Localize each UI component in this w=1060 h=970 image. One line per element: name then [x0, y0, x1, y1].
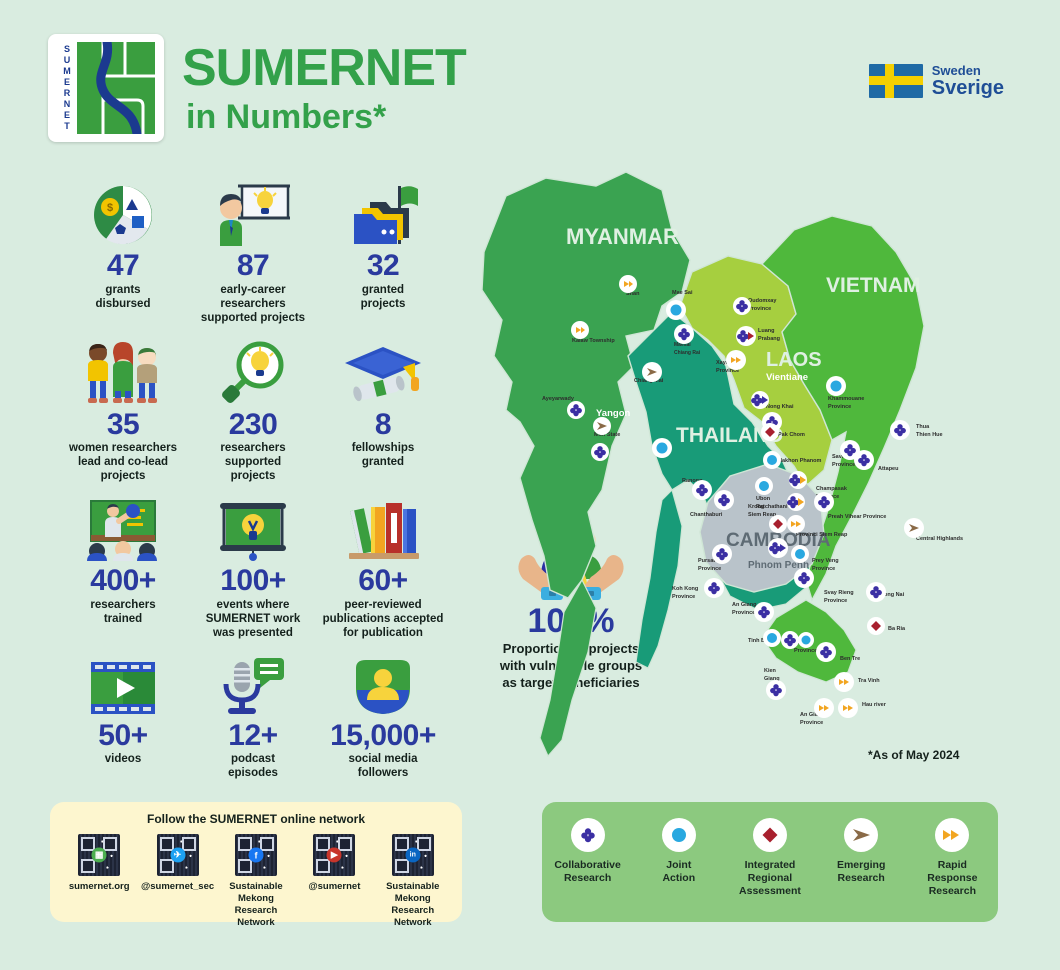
- logo-wordmark: SUMERNET: [57, 42, 77, 134]
- place-label: An Giang: [732, 602, 756, 608]
- map-marker: [736, 326, 756, 346]
- social-caption: @sumernet: [297, 881, 371, 893]
- qr-code-twitter[interactable]: ✈: [157, 834, 199, 876]
- map-marker: [794, 568, 814, 588]
- circle-dot-icon: [662, 818, 696, 852]
- svg-text:$: $: [107, 202, 113, 214]
- map-marker: [769, 515, 787, 533]
- website-icon: ▦: [92, 848, 107, 863]
- legend-item-emerging-research[interactable]: Emerging Research: [819, 818, 903, 922]
- place-label: Province: [672, 594, 695, 600]
- social-panel-title: Follow the SUMERNET online network: [50, 802, 462, 826]
- place-label: Chanthaburi: [690, 512, 723, 518]
- stat-number: 12+: [228, 720, 277, 752]
- stat-card: 400+ researchers trained: [58, 493, 188, 640]
- qr-code-linkedin[interactable]: in: [392, 834, 434, 876]
- place-label: Province: [698, 566, 721, 572]
- map-marker: [834, 672, 854, 692]
- place-label: Provinci Siem Reap: [796, 532, 848, 538]
- clover-icon: [571, 818, 605, 852]
- map-svg: MYANMAR VIETNAM LAOS THAILAND CAMBODIA V…: [476, 160, 1036, 780]
- books-shelf-icon: [345, 493, 421, 561]
- map-marker: [733, 297, 751, 315]
- stat-number: 50+: [98, 720, 147, 752]
- linkedin-icon: in: [405, 848, 420, 863]
- three-women-icon: [82, 335, 164, 405]
- qr-code-facebook[interactable]: f: [235, 834, 277, 876]
- map-marker: [904, 518, 924, 538]
- stat-label: researchers supported projects: [220, 441, 285, 483]
- map-marker: [814, 492, 834, 512]
- map-marker: [712, 544, 732, 564]
- place-label: Tra Vinh: [858, 678, 880, 684]
- place-label: Kalaw Township: [572, 338, 615, 344]
- map-marker: [755, 477, 773, 495]
- diamond-icon: [753, 818, 787, 852]
- stat-number: 100+: [220, 565, 286, 597]
- stat-card: 32 granted projects: [318, 176, 448, 325]
- map-marker: [838, 698, 858, 718]
- map-marker: [714, 490, 734, 510]
- stat-label: events where SUMERNET work was presented: [206, 598, 301, 640]
- stat-card: 12+ podcast episodes: [188, 650, 318, 781]
- place-label: Thien Hue: [916, 432, 943, 438]
- place-label: Nong Khai: [766, 404, 794, 410]
- place-label: Ayeyarwady: [542, 396, 575, 402]
- stat-card: $ 47 grants disbursed: [58, 176, 188, 325]
- map-marker: [704, 578, 724, 598]
- place-label: Province: [748, 306, 771, 312]
- place-label: Thua: [916, 424, 930, 430]
- map-marker: [768, 538, 788, 558]
- place-label: Svay Rieng: [824, 590, 854, 596]
- stat-label: granted projects: [361, 283, 406, 311]
- place-label: Mae Sai: [672, 290, 693, 296]
- map-marker: [642, 362, 662, 382]
- social-item[interactable]: ▦ sumernet.org: [62, 834, 136, 929]
- sumernet-logo: SUMERNET: [48, 34, 164, 142]
- place-label: Hau river: [862, 702, 887, 708]
- legend-item-integrated-regional-assessment[interactable]: Integrated Regional Assessment: [728, 818, 812, 922]
- stat-card: 8 fellowships granted: [318, 335, 448, 484]
- stat-card: 60+ peer-reviewed publications accepted …: [318, 493, 448, 640]
- place-label: Province: [794, 648, 817, 654]
- stat-card: 87 early-career researchers supported pr…: [188, 176, 318, 325]
- classroom-training-icon: [83, 493, 163, 561]
- map-marker: [652, 438, 672, 458]
- sweden-label-en: Sweden: [932, 64, 1004, 78]
- map-marker: [766, 680, 786, 700]
- stat-label: videos: [105, 752, 141, 766]
- map-marker: [763, 629, 781, 647]
- header: SUMERNET SUMERNET in Numbers*: [48, 34, 466, 142]
- place-label: Champasak: [816, 486, 848, 492]
- map-marker: [890, 420, 910, 440]
- stat-label: grants disbursed: [96, 283, 151, 311]
- country-label-laos: LAOS: [766, 349, 822, 371]
- stat-number: 32: [367, 250, 399, 282]
- map-marker: [666, 300, 686, 320]
- social-caption: Sustainable Mekong Research Network: [219, 881, 293, 929]
- map-marker: [826, 376, 846, 396]
- map-marker: [567, 401, 585, 419]
- place-label: Prabang: [758, 336, 780, 342]
- map-marker: [854, 450, 874, 470]
- stat-card: 230 researchers supported projects: [188, 335, 318, 484]
- as-of-note: *As of May 2024: [868, 748, 959, 762]
- stat-number: 35: [107, 409, 139, 441]
- place-label: Khammouane: [828, 396, 864, 402]
- legend-caption: Collaborative Research: [546, 859, 630, 885]
- social-caption: @sumernet_sec: [141, 881, 215, 893]
- place-label: Province: [824, 598, 847, 604]
- stat-label: fellowships granted: [352, 441, 415, 469]
- place-label: Pak Chom: [778, 432, 805, 438]
- graduation-cap-icon: [343, 335, 423, 405]
- map-marker: [866, 582, 886, 602]
- city-label-vientiane: Vientiane: [766, 372, 808, 383]
- stat-label: social media followers: [348, 752, 417, 780]
- social-item[interactable]: in Sustainable Mekong Research Network: [376, 834, 450, 929]
- map-marker: [751, 391, 769, 409]
- country-label-myanmar: MYANMAR: [566, 224, 679, 249]
- place-label: Attapeu: [878, 466, 898, 472]
- social-item[interactable]: f Sustainable Mekong Research Network: [219, 834, 293, 929]
- stat-label: early-career researchers supported proje…: [201, 283, 305, 325]
- social-item[interactable]: ✈ @sumernet_sec: [141, 834, 215, 929]
- place-label: Province: [828, 404, 851, 410]
- legend-caption: Integrated Regional Assessment: [728, 859, 812, 898]
- stat-number: 47: [107, 250, 139, 282]
- social-network-panel: Follow the SUMERNET online network ▦ sum…: [50, 802, 462, 922]
- sweden-flag-icon: [869, 64, 923, 98]
- place-label: Ben Tre: [840, 656, 860, 662]
- map-marker: [787, 493, 805, 511]
- logo-map-icon: [77, 42, 155, 134]
- map-marker: [763, 451, 781, 469]
- stats-grid: $ 47 grants disbursed: [58, 176, 448, 780]
- page-title: SUMERNET: [182, 42, 466, 95]
- map-marker: [619, 275, 637, 293]
- double-arrow-icon: [935, 818, 969, 852]
- legend-item-rapid-response-research[interactable]: Rapid Response Research: [910, 818, 994, 922]
- map-marker: [726, 350, 746, 370]
- arrow-head-icon: [844, 818, 878, 852]
- map-marker: [798, 632, 814, 648]
- social-caption: Sustainable Mekong Research Network: [376, 881, 450, 929]
- stat-number: 8: [375, 409, 391, 441]
- page-subtitle: in Numbers*: [186, 100, 466, 134]
- twitter-icon: ✈: [170, 848, 185, 863]
- place-label: Province: [812, 566, 835, 572]
- magnifier-idea-icon: [220, 335, 286, 405]
- infographic-root: SUMERNET SUMERNET in Numbers* Sweden S: [0, 0, 1060, 970]
- place-label: Province: [800, 720, 823, 726]
- map-marker: [789, 471, 807, 489]
- mekong-region-map: MYANMAR VIETNAM LAOS THAILAND CAMBODIA V…: [476, 160, 1036, 780]
- map-marker: [787, 515, 805, 533]
- map-marker: [791, 545, 809, 563]
- place-label: Prey Veng: [812, 558, 839, 564]
- map-marker: [754, 602, 774, 622]
- place-label: Pursat: [698, 558, 715, 564]
- place-label: Krong: [748, 504, 764, 510]
- legend-caption: Emerging Research: [819, 859, 903, 885]
- place-label: Central Highlands: [916, 536, 963, 542]
- stat-label: podcast episodes: [228, 752, 278, 780]
- place-label: Nakhon Phanom: [778, 458, 822, 464]
- stat-label: researchers trained: [90, 598, 155, 626]
- stat-label: peer-reviewed publications accepted for …: [323, 598, 444, 640]
- map-marker: [591, 443, 609, 461]
- place-label: Koh Kong: [672, 586, 698, 592]
- map-marker: [781, 631, 799, 649]
- map-marker: [816, 642, 836, 662]
- place-label: Oudomxay: [748, 298, 777, 304]
- stat-number: 15,000+: [330, 720, 436, 752]
- map-marker: [692, 480, 712, 500]
- stat-number: 230: [229, 409, 278, 441]
- sweden-logo: Sweden Sverige: [869, 64, 1004, 99]
- legend-caption: Rapid Response Research: [910, 859, 994, 898]
- stat-card: 35 women researchers lead and co-lead pr…: [58, 335, 188, 484]
- place-label: Province: [832, 462, 855, 468]
- sweden-label-sv: Sverige: [932, 78, 1004, 99]
- place-label: Chiang Rai: [674, 350, 701, 356]
- place-label: Ubon: [756, 496, 771, 502]
- place-label: Ba Ria: [888, 626, 906, 632]
- social-caption: sumernet.org: [62, 881, 136, 893]
- social-item[interactable]: ▶ @sumernet: [297, 834, 371, 929]
- legend-item-joint-action[interactable]: Joint Action: [637, 818, 721, 922]
- stat-number: 400+: [90, 565, 156, 597]
- facebook-icon: f: [248, 848, 263, 863]
- film-play-icon: [87, 650, 159, 716]
- map-marker: [571, 321, 589, 339]
- place-label: Province: [732, 610, 755, 616]
- map-marker: [814, 698, 834, 718]
- place-label: Preah Vihear Province: [828, 514, 886, 520]
- map-marker: [761, 423, 779, 441]
- stat-card: 100+ events where SUMERNET work was pres…: [188, 493, 318, 640]
- place-label: Kien: [764, 668, 777, 674]
- legend-item-collaborative-research[interactable]: Collaborative Research: [546, 818, 630, 922]
- youtube-icon: ▶: [327, 848, 342, 863]
- map-marker: [867, 617, 885, 635]
- map-marker: [674, 324, 694, 344]
- presenter-idea-icon: [216, 176, 290, 246]
- stat-label: women researchers lead and co-lead proje…: [69, 441, 177, 483]
- map-legend-panel: Collaborative Research Joint Action Inte…: [542, 802, 998, 922]
- qr-code-youtube[interactable]: ▶: [313, 834, 355, 876]
- qr-code-website[interactable]: ▦: [78, 834, 120, 876]
- map-marker: [593, 417, 611, 435]
- stat-card: 15,000+ social media followers: [318, 650, 448, 781]
- pie-chart-money-icon: $: [92, 176, 154, 246]
- stat-number: 87: [237, 250, 269, 282]
- country-label-vietnam: VIETNAM: [826, 274, 921, 297]
- projector-screen-idea-icon: [216, 493, 290, 561]
- stat-number: 60+: [358, 565, 407, 597]
- stat-card: 50+ videos: [58, 650, 188, 781]
- folder-flag-icon: [348, 176, 418, 246]
- place-label: Luang: [758, 328, 775, 334]
- microphone-chat-icon: [218, 650, 288, 716]
- legend-caption: Joint Action: [637, 859, 721, 885]
- follower-badge-icon: [352, 650, 414, 716]
